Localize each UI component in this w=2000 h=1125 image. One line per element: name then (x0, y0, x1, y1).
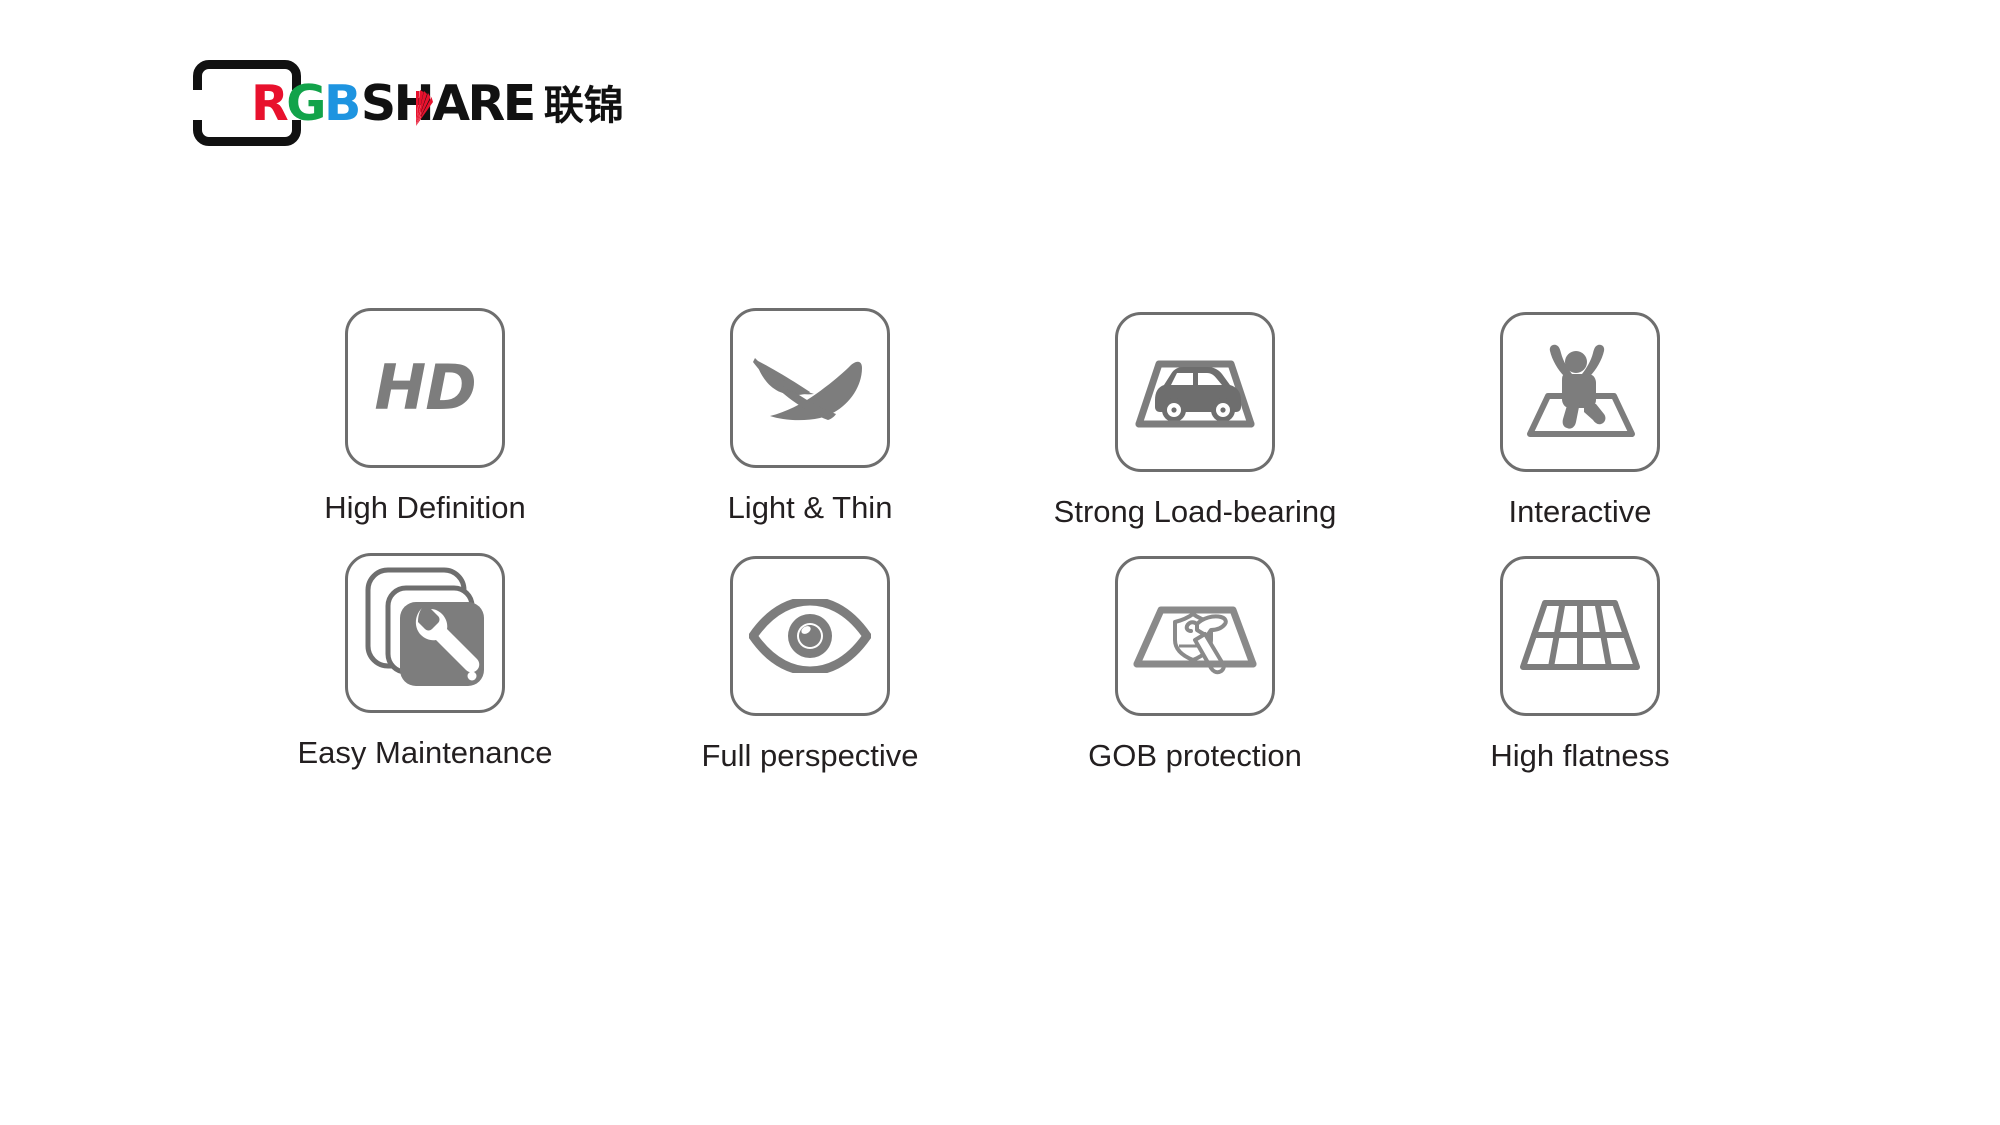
feature-cell-high-definition[interactable]: HD High Definition (275, 308, 575, 526)
feature-cell-interactive[interactable]: Interactive (1430, 312, 1730, 530)
feature-cell-high-flatness[interactable]: High flatness (1430, 556, 1730, 774)
feature-cell-strong-load-bearing[interactable]: Strong Load-bearing (1045, 312, 1345, 530)
feature-label-high-flatness: High flatness (1430, 738, 1730, 774)
feature-label-gob-protection: GOB protection (1045, 738, 1345, 774)
grid-panel-icon (1500, 556, 1660, 716)
car-on-panel-icon (1115, 312, 1275, 472)
person-jumping-icon (1500, 312, 1660, 472)
feature-label-strong-load-bearing: Strong Load-bearing (1045, 494, 1345, 530)
logo-text-chinese: 联锦 (544, 86, 624, 126)
feature-cell-full-perspective[interactable]: Full perspective (660, 556, 960, 774)
logo-letter-g: G (286, 79, 324, 128)
hammer-shield-icon (1115, 556, 1275, 716)
feature-label-full-perspective: Full perspective (660, 738, 960, 774)
hd-icon: HD (345, 308, 505, 468)
logo-letter-b: B (324, 79, 359, 128)
logo-letter-r: R (251, 79, 286, 128)
feature-label-high-definition: High Definition (275, 490, 575, 526)
hd-glyph-label: HD (374, 357, 475, 419)
wrench-panels-icon (345, 553, 505, 713)
feature-label-light-thin: Light & Thin (660, 490, 960, 526)
feature-cell-easy-maintenance[interactable]: Easy Maintenance (275, 553, 575, 771)
feature-label-interactive: Interactive (1430, 494, 1730, 530)
logo-wordmark: RGBSHARE联锦 (251, 79, 624, 128)
logo-text-share: SHARE (361, 79, 534, 128)
slide-canvas: RGBSHARE联锦 HD High Definition (0, 0, 2000, 1125)
feature-label-easy-maintenance: Easy Maintenance (275, 735, 575, 771)
feature-cell-light-thin[interactable]: Light & Thin (660, 308, 960, 526)
feather-icon (730, 308, 890, 468)
eye-icon (730, 556, 890, 716)
brand-logo: RGBSHARE联锦 (193, 60, 301, 146)
feature-cell-gob-protection[interactable]: GOB protection (1045, 556, 1345, 774)
